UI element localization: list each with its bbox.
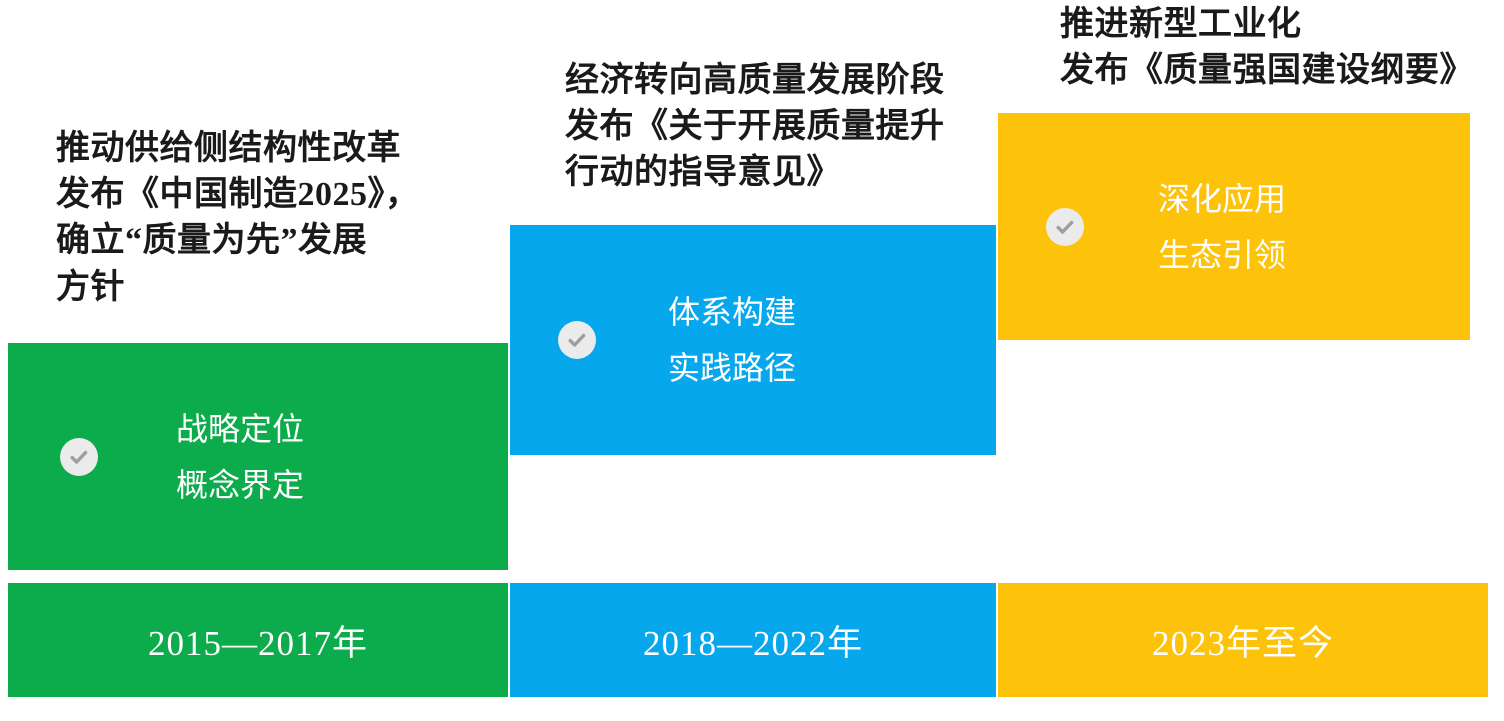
stage-caption-1: 推动供给侧结构性改革 发布《中国制造2025》， 确立“质量为先”发展 方针: [56, 126, 476, 311]
timeline-diagram: 推动供给侧结构性改革 发布《中国制造2025》， 确立“质量为先”发展 方针 经…: [0, 0, 1504, 721]
stage-caption-3: 推进新型工业化 发布《质量强国建设纲要》: [1060, 2, 1500, 94]
check-circle-icon: [558, 321, 596, 359]
stage-block-2[interactable]: 体系构建 实践路径: [510, 225, 996, 455]
check-circle-icon: [60, 438, 98, 476]
period-label-2[interactable]: 2018—2022年: [510, 583, 996, 697]
stage-block-3[interactable]: 深化应用 生态引领: [998, 113, 1470, 340]
period-label-1[interactable]: 2015—2017年: [8, 583, 508, 697]
stage-block-label-1: 战略定位 概念界定: [176, 401, 304, 513]
stage-block-label-3: 深化应用 生态引领: [1158, 171, 1286, 283]
stage-caption-2: 经济转向高质量发展阶段 发布《关于开展质量提升 行动的指导意见》: [565, 58, 995, 197]
check-circle-icon: [1046, 208, 1084, 246]
period-label-3[interactable]: 2023年至今: [998, 583, 1488, 697]
stage-block-1[interactable]: 战略定位 概念界定: [8, 343, 508, 570]
stage-block-label-2: 体系构建 实践路径: [668, 284, 796, 396]
